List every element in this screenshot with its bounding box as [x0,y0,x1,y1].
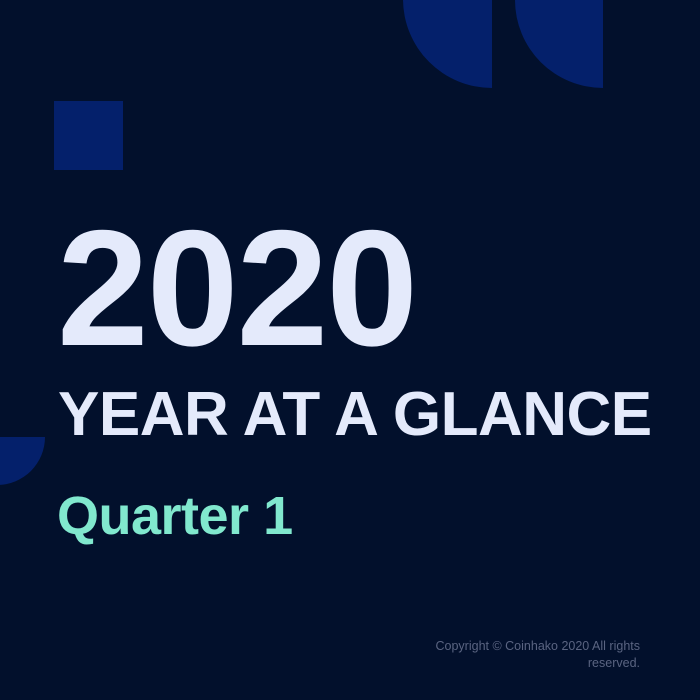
quarter-circle-top-right-1-shape [403,0,492,88]
quarter-label: Quarter 1 [57,489,293,543]
page-title: YEAR AT A GLANCE [58,384,652,446]
quarter-circle-top-right-2-shape [515,0,603,88]
copyright-line-1: Copyright © Coinhako 2020 All [436,639,606,653]
copyright-notice: Copyright © Coinhako 2020 All rights res… [420,638,640,672]
title-slide: 2020 YEAR AT A GLANCE Quarter 1 Copyrigh… [0,0,700,700]
quarter-circle-left-middle-shape [0,437,45,485]
square-top-left-shape [54,101,123,170]
year-heading: 2020 [57,206,416,371]
